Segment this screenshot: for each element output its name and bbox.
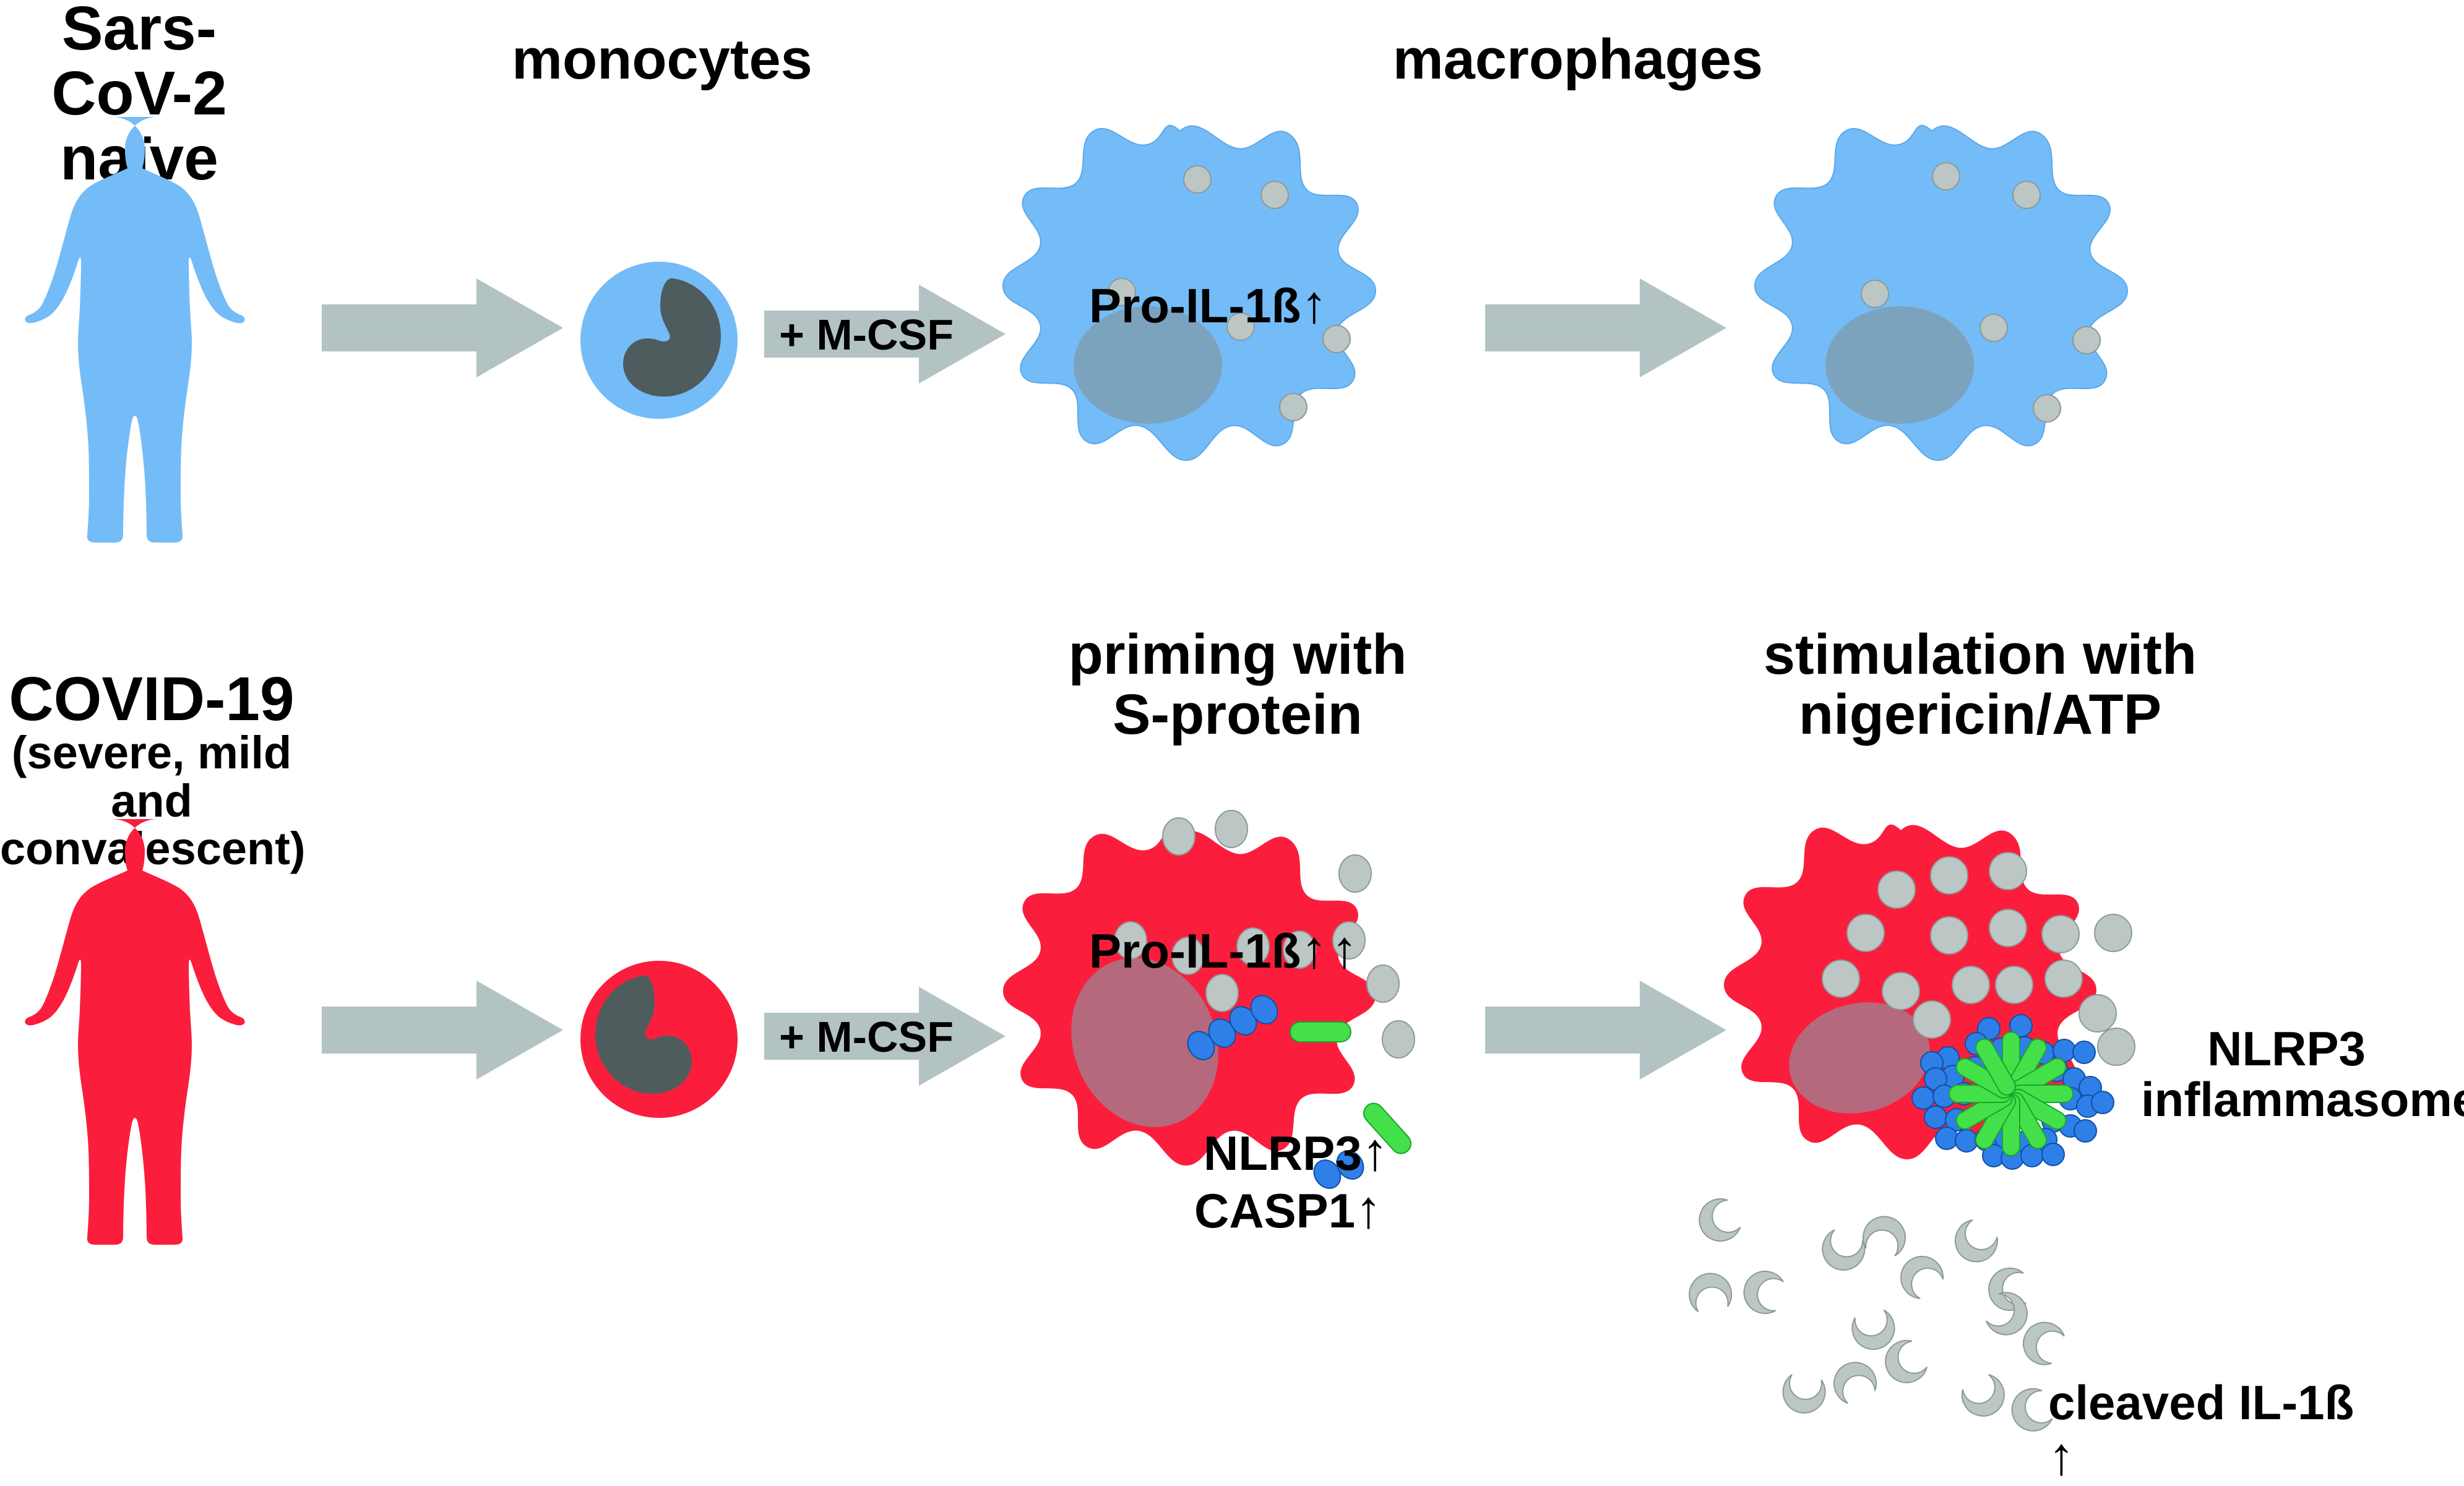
figure-canvas: Sars-CoV-2 naïve + M-CSF (0, 0, 2464, 1433)
column-header-stimulation: stimulation with nigericin/ATP (1733, 625, 2228, 744)
human-silhouette-naive (34, 108, 282, 548)
arrow-human-to-monocyte-covid (322, 981, 563, 1080)
donor-title-covid: COVID-19 (6, 667, 297, 732)
macrophage-naive-resting (1770, 118, 2203, 551)
column-header-macrophages: macrophages (1361, 30, 1794, 90)
macrophage-naive-primed (1018, 118, 1451, 551)
arrow-human-to-monocyte-naive (322, 278, 563, 377)
monocyte-covid (575, 956, 743, 1123)
macrophage-label-casp1-covid: CASP1↑ (1194, 1131, 1454, 1237)
arrow-primed-to-stimulated-covid (1485, 981, 1726, 1080)
annotation-nlrp3-inflammasome: NLRP3 inflammasome (2141, 1024, 2432, 1125)
macrophage-label-proil1b-naive: Pro-IL-1ß↑ (1089, 226, 1380, 332)
macrophage-label-proil1b-covid: Pro-IL-1ß↑↑ (1089, 871, 1460, 977)
arrow-macrophage-to-macrophage-naive (1485, 278, 1726, 377)
casp1-up-arrow: ↑ (1355, 1180, 1382, 1239)
monocyte-naive (575, 257, 743, 424)
cleaved-il1b-text: cleaved IL-1ß (2048, 1375, 2354, 1430)
column-header-priming: priming with S-protein (1027, 625, 1448, 744)
arrow-label-mcsf-naive: + M-CSF (764, 312, 968, 358)
arrow-label-mcsf-covid: + M-CSF (764, 1015, 968, 1060)
column-header-monocytes: monocytes (489, 30, 835, 90)
proil1b-text-covid: Pro-IL-1ß (1089, 924, 1301, 978)
human-silhouette-covid (34, 810, 282, 1250)
proil1b-up-arrows-covid: ↑↑ (1301, 920, 1361, 979)
annotation-cleaved-il1b: cleaved IL-1ß ↑ (2048, 1327, 2444, 1484)
proil1b-up-arrow: ↑ (1301, 275, 1327, 334)
casp1-text: CASP1 (1194, 1183, 1355, 1238)
proil1b-text: Pro-IL-1ß (1089, 278, 1301, 333)
cleaved-il1b-up-arrow: ↑ (2048, 1427, 2075, 1486)
